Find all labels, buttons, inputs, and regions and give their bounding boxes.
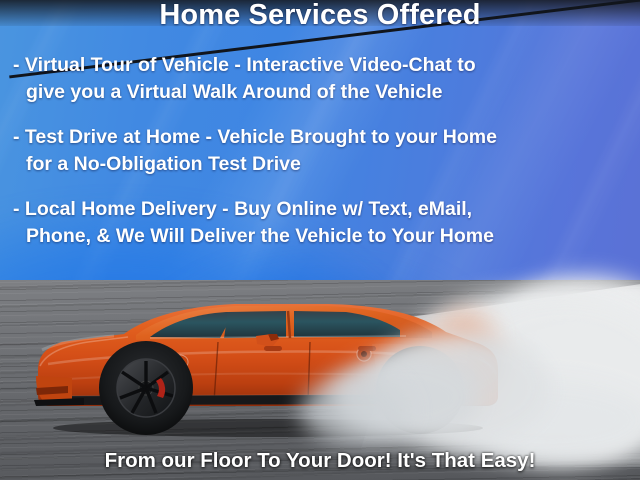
bullet-line-2: for a No-Obligation Test Drive xyxy=(14,151,640,178)
bullet-line-1: - Local Home Delivery - Buy Online w/ Te… xyxy=(13,198,472,220)
promo-banner: Home Services Offered - Virtual Tour of … xyxy=(0,0,640,480)
bullet-line-1: - Virtual Tour of Vehicle - Interactive … xyxy=(13,54,476,76)
page-title: Home Services Offered xyxy=(0,0,640,32)
bullet-line-2: Phone, & We Will Deliver the Vehicle to … xyxy=(14,223,640,250)
bullet-line-2: give you a Virtual Walk Around of the Ve… xyxy=(14,79,640,106)
vehicle-image xyxy=(28,292,498,437)
tagline: From our Floor To Your Door! It's That E… xyxy=(0,449,640,473)
services-list: - Virtual Tour of Vehicle - Interactive … xyxy=(0,52,640,268)
list-item: - Test Drive at Home - Vehicle Brought t… xyxy=(0,124,640,177)
list-item: - Virtual Tour of Vehicle - Interactive … xyxy=(0,52,640,105)
list-item: - Local Home Delivery - Buy Online w/ Te… xyxy=(0,196,640,249)
bullet-line-1: - Test Drive at Home - Vehicle Brought t… xyxy=(13,126,497,148)
